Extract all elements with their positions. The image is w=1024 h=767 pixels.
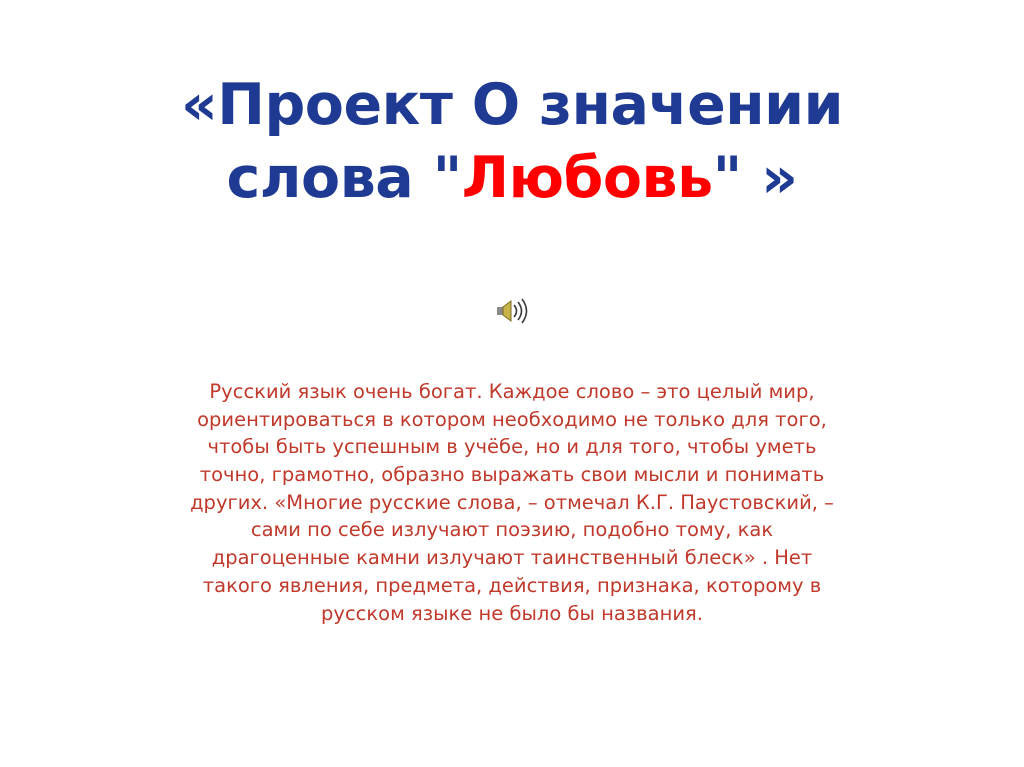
title-line-2-prefix: слова " (227, 145, 462, 211)
slide-body-text: Русский язык очень богат. Каждое слово –… (182, 378, 842, 627)
title-line-2-suffix: " » (713, 145, 798, 211)
presentation-slide: «Проект О значении слова "Любовь" » Русс… (0, 0, 1024, 767)
audio-icon-container[interactable] (0, 296, 1024, 326)
title-line-2: слова "Любовь" » (0, 145, 1024, 212)
speaker-audio-icon[interactable] (495, 296, 529, 326)
title-accent-word: Любовь (462, 145, 713, 211)
title-line-1: «Проект О значении (0, 72, 1024, 139)
slide-title: «Проект О значении слова "Любовь" » (0, 72, 1024, 213)
